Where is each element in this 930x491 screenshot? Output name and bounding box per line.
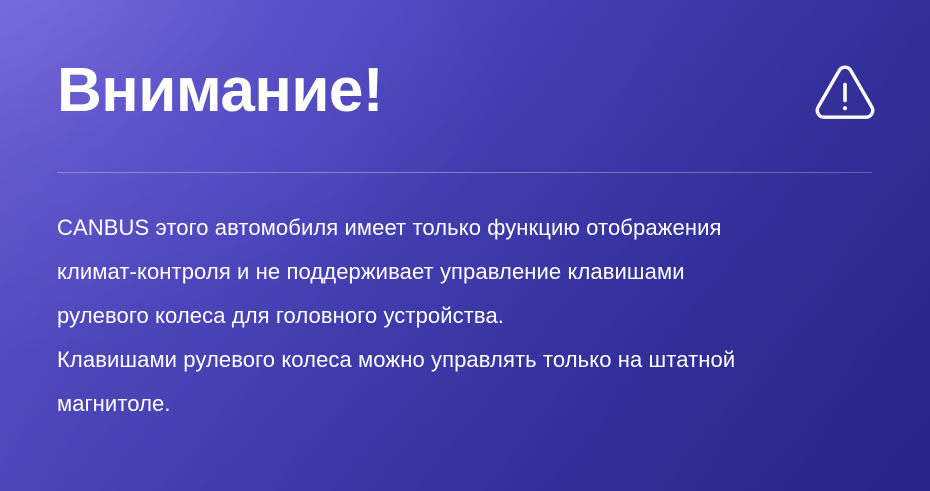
warning-triangle-icon: [814, 62, 876, 120]
page-title: Внимание!: [57, 53, 383, 129]
notice-body-line: магнитоле.: [57, 382, 887, 426]
notice-body-line: рулевого колеса для головного устройства…: [57, 294, 887, 338]
notice-body: CANBUS этого автомобиля имеет только фун…: [57, 206, 887, 426]
warning-notice-banner: Внимание! CANBUS этого автомобиля имеет …: [0, 0, 930, 491]
notice-body-line: CANBUS этого автомобиля имеет только фун…: [57, 206, 887, 250]
notice-header: Внимание!: [57, 48, 878, 134]
notice-body-line: Клавишами рулевого колеса можно управлят…: [57, 338, 887, 382]
notice-body-line: климат-контроля и не поддерживает управл…: [57, 250, 887, 294]
header-divider: [57, 172, 872, 173]
